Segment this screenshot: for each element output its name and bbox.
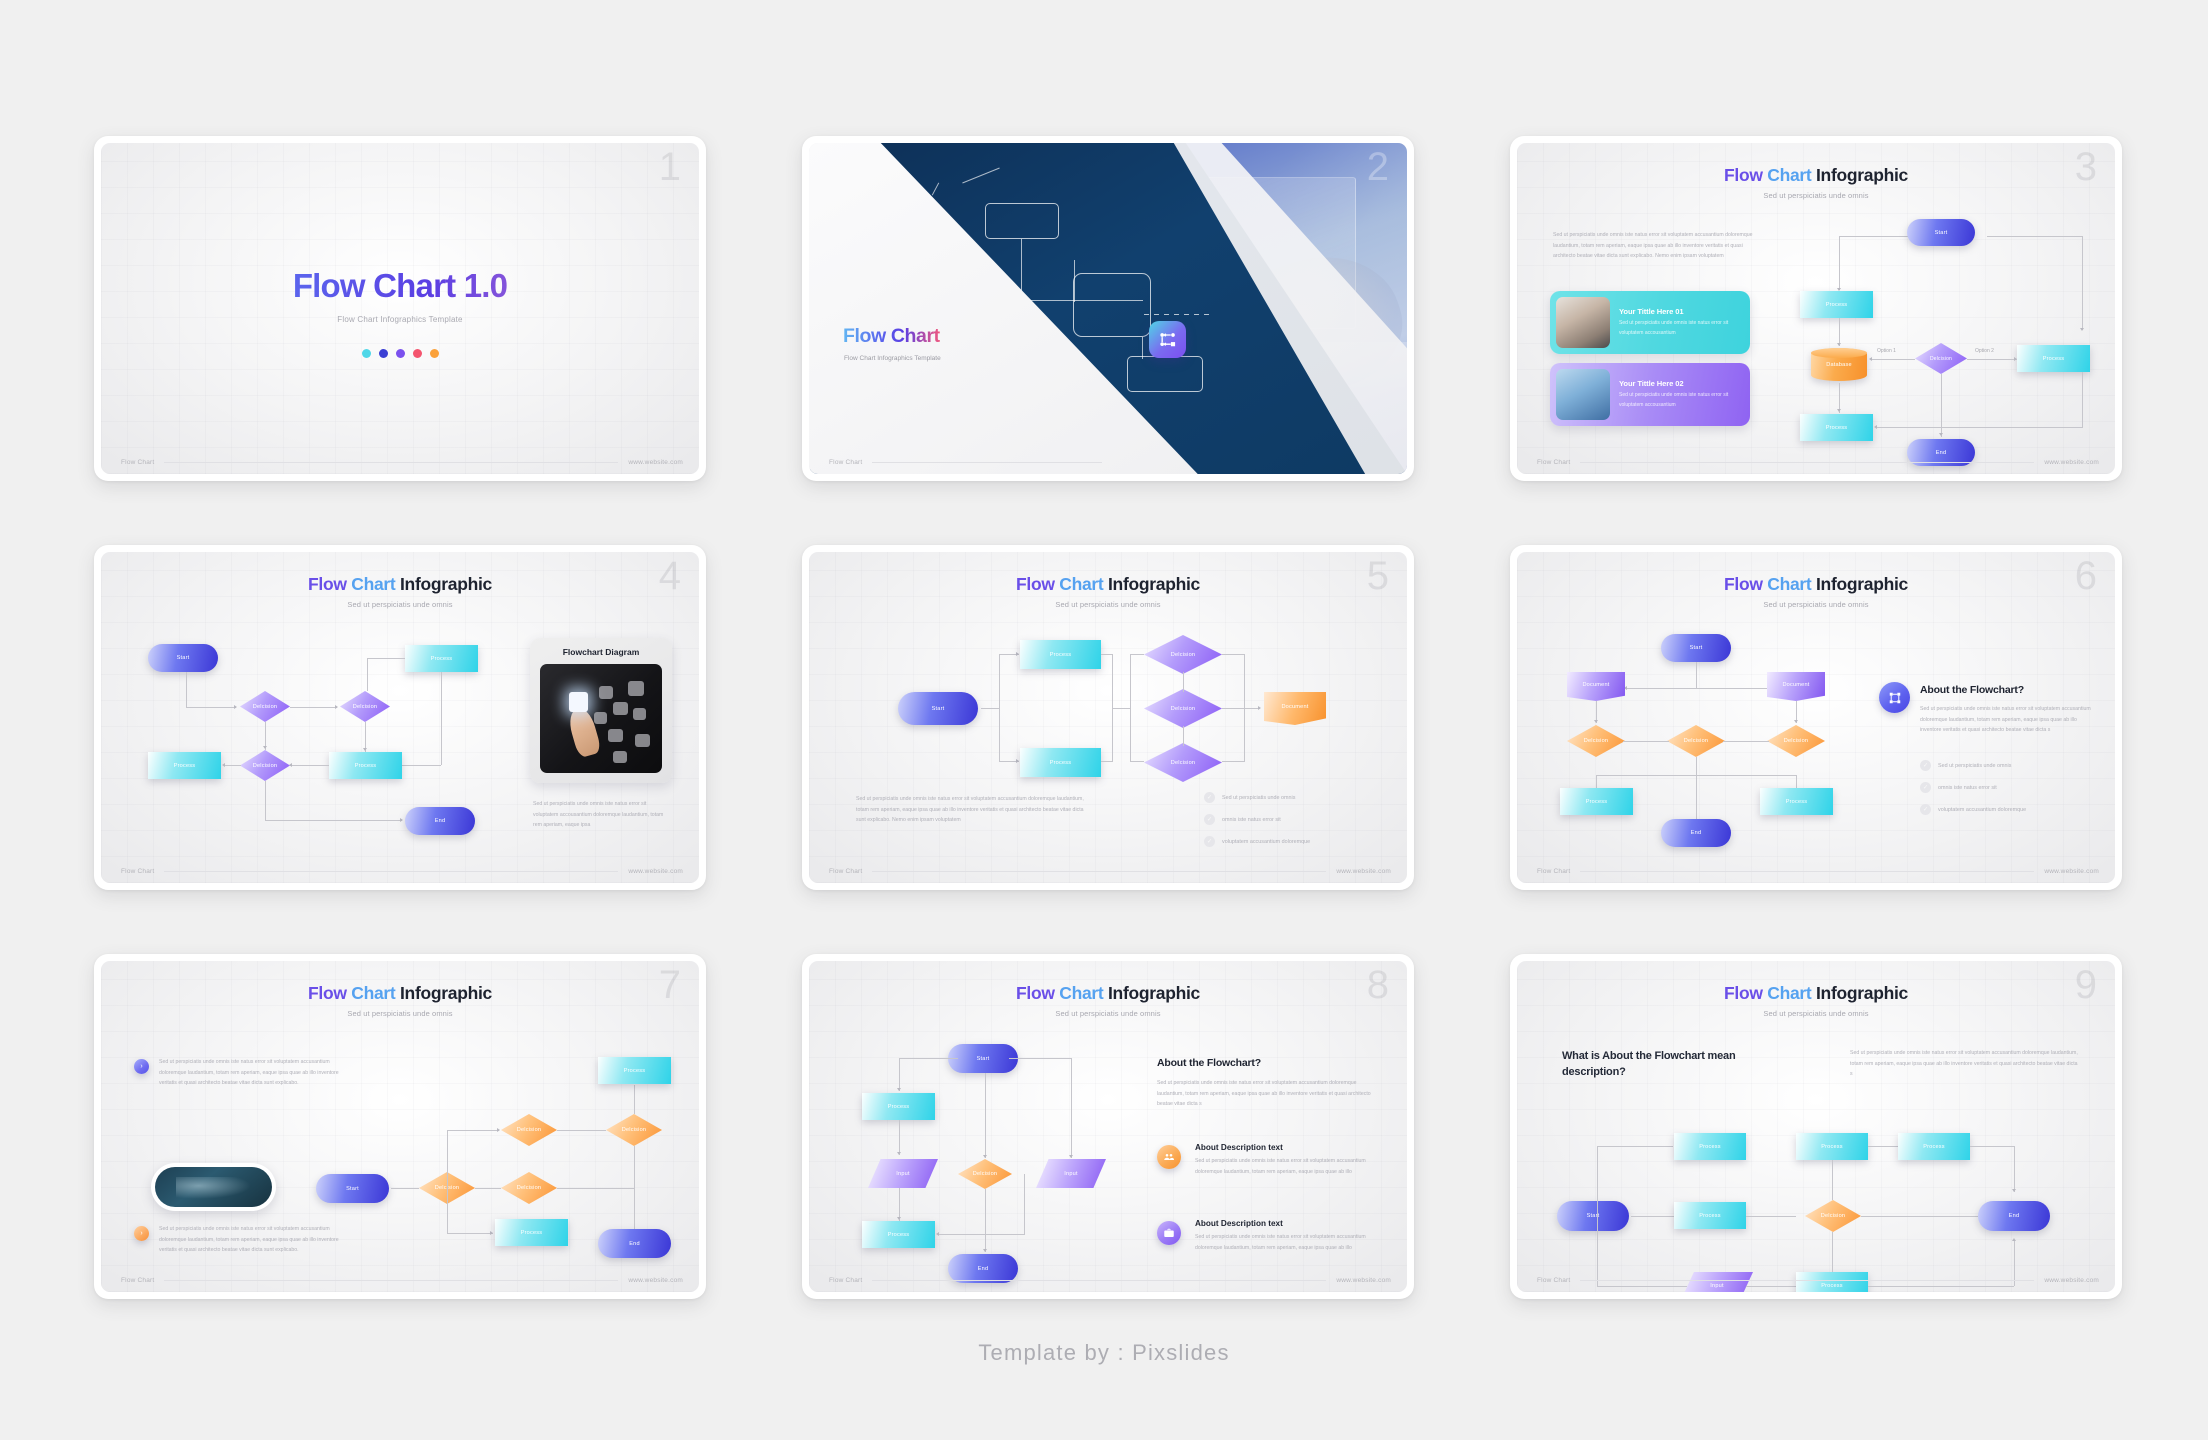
check-icon: ✓: [1204, 814, 1215, 825]
connector: [1222, 654, 1244, 655]
node-decision-b[interactable]: Delcision: [501, 1172, 557, 1204]
node-input-right[interactable]: Input: [1036, 1159, 1106, 1188]
footer-left: Flow Chart: [829, 868, 862, 875]
slide-subtitle: Sed ut perspiciatis unde omnis: [1517, 1009, 2115, 1018]
node-label: Process: [2043, 356, 2065, 362]
footer-rule: [164, 462, 618, 463]
connector: [2014, 1146, 2015, 1192]
node-label: End: [2009, 1213, 2020, 1219]
connector: [447, 1188, 448, 1233]
node-start[interactable]: Start: [1907, 219, 1975, 246]
users-icon: [1157, 1145, 1181, 1169]
slide-5-infographic-document[interactable]: 5 Flow Chart Infographic Sed ut perspici…: [802, 545, 1414, 890]
bullet-item: ✓ Sed ut perspiciatis unde omnis: [1920, 760, 2100, 771]
node-decision-2[interactable]: Delcision: [340, 691, 390, 722]
node-end[interactable]: End: [405, 807, 475, 835]
connector: [1839, 318, 1840, 346]
slide-number: 9: [2075, 965, 2097, 1005]
drawn-line-6: [962, 168, 999, 184]
connector: [938, 1234, 1024, 1235]
node-start[interactable]: Start: [316, 1174, 389, 1203]
node-decision-3[interactable]: Delcision: [1144, 743, 1222, 782]
node-label: Input: [1064, 1171, 1077, 1177]
flowchart-diagram-photo-card[interactable]: Flowchart Diagram: [530, 638, 672, 783]
title-word-infographic: Infographic: [1108, 983, 1200, 1003]
photo-node: [633, 708, 646, 720]
page-footer-credit: Template by : Pixslides: [0, 1340, 2208, 1366]
node-decision-1[interactable]: Delcision: [1144, 635, 1222, 674]
slide-footer: Flow Chart www.website.com: [1537, 868, 2099, 875]
node-label: Delcision: [1171, 760, 1196, 766]
footer-right: www.website.com: [628, 868, 683, 875]
node-label: Process: [1826, 302, 1848, 308]
node-start[interactable]: Start: [898, 692, 978, 725]
node-process-top[interactable]: Process: [1020, 640, 1101, 669]
arrow-left: [289, 763, 292, 767]
node-label: Start: [346, 1186, 359, 1192]
node-label: Delcision: [253, 763, 278, 769]
connector: [899, 1120, 900, 1155]
arrow-down: [897, 1088, 901, 1091]
title-word-chart: Chart: [351, 574, 395, 594]
bullet-item: ✓ Sed ut perspiciatis unde omnis: [1204, 792, 1394, 803]
node-start[interactable]: Start: [148, 644, 218, 672]
title-word-chart: Chart: [1767, 574, 1811, 594]
node-label: Delcision: [1584, 738, 1609, 744]
footer-right: www.website.com: [2044, 459, 2099, 466]
slide-1-cover[interactable]: 1 Flow Chart 1.0 Flow Chart Infographics…: [94, 136, 706, 481]
node-decision-1[interactable]: Delcision: [240, 691, 290, 722]
connector: [1101, 761, 1112, 762]
arrow-down: [983, 1155, 987, 1158]
slide-9-infographic-question[interactable]: 9 Flow Chart Infographic Sed ut perspici…: [1510, 954, 2122, 1299]
node-end[interactable]: End: [598, 1229, 671, 1258]
title-word-chart: Chart: [1059, 574, 1103, 594]
option-1-label: Option 1: [1877, 348, 1896, 354]
node-process-1[interactable]: Process: [1800, 291, 1873, 318]
slide-heading: Flow Chart Infographic Sed ut perspiciat…: [1517, 143, 2115, 200]
node-label: Process: [1923, 1144, 1945, 1150]
node-process-mid[interactable]: Process: [329, 752, 402, 779]
footer-rule: [1580, 1280, 2034, 1281]
arrow-down: [1939, 433, 1943, 436]
node-label: Process: [355, 763, 377, 769]
footer-left: Flow Chart: [829, 459, 862, 466]
connector: [1130, 654, 1144, 655]
title-word-flow: Flow: [1724, 983, 1763, 1003]
connector: [290, 765, 329, 766]
footer-right: www.website.com: [2044, 1277, 2099, 1284]
photo-node: [608, 729, 623, 742]
connector: [1597, 1146, 1673, 1147]
arrow-down: [983, 1249, 987, 1252]
photo-node: [613, 751, 626, 763]
dot-2: [379, 349, 388, 358]
connector: [1597, 1286, 1687, 1287]
slide-heading: Flow Chart Infographic Sed ut perspiciat…: [101, 552, 699, 609]
connector: [1696, 775, 1697, 823]
node-process-right[interactable]: Process: [1760, 788, 1833, 815]
info-card-2[interactable]: Your Tittle Here 02 Sed ut perspiciatis …: [1550, 363, 1750, 426]
connector: [1746, 1216, 1796, 1217]
node-process-top-right[interactable]: Process: [1898, 1133, 1970, 1160]
connector: [186, 707, 236, 708]
connector: [398, 765, 441, 766]
connector: [1832, 1160, 1833, 1200]
footer-rule: [164, 1280, 618, 1281]
connector: [224, 765, 241, 766]
node-process-2[interactable]: Process: [2017, 345, 2090, 372]
node-label: Process: [1699, 1144, 1721, 1150]
dot-5: [430, 349, 439, 358]
dot-4: [413, 349, 422, 358]
slide-footer: Flow Chart www.website.com: [121, 459, 683, 466]
about-heading: About the Flowchart?: [1920, 684, 2024, 696]
about-body: Sed ut perspiciatis unde omnis iste natu…: [1157, 1078, 1383, 1110]
slide-4-infographic-diagram-photo[interactable]: 4 Flow Chart Infographic Sed ut perspici…: [94, 545, 706, 890]
node-process-left[interactable]: Process: [1560, 788, 1633, 815]
connector: [634, 1085, 635, 1114]
node-label: Process: [888, 1104, 910, 1110]
node-label: Process: [1821, 1144, 1843, 1150]
node-process-3[interactable]: Process: [1800, 414, 1873, 441]
slide-number: 2: [1367, 147, 1389, 187]
slide-number: 7: [659, 965, 681, 1005]
about-body: Sed ut perspiciatis unde omnis iste natu…: [1920, 704, 2095, 736]
arrow-down: [1794, 720, 1798, 723]
arrow-right: [234, 705, 237, 709]
node-database[interactable]: Database: [1811, 348, 1867, 381]
arrow-down: [1594, 720, 1598, 723]
connector: [1839, 236, 1840, 290]
description-heading: About Description text: [1195, 1219, 1383, 1228]
bullet-text: voluptatem accusantium doloremque: [1222, 839, 1310, 845]
connector: [1868, 1146, 1898, 1147]
connector: [1183, 672, 1184, 692]
connector: [1222, 761, 1244, 762]
node-decision[interactable]: Delcision: [958, 1159, 1012, 1189]
node-label: Process: [1050, 652, 1072, 658]
photo-node: [599, 686, 614, 699]
connector: [1631, 1216, 1675, 1217]
slide-paragraph: Sed ut perspiciatis unde omnis iste natu…: [856, 794, 1086, 826]
slide-7-infographic-two-notes[interactable]: 7 Flow Chart Infographic Sed ut perspici…: [94, 954, 706, 1299]
connector: [367, 658, 405, 659]
node-decision[interactable]: Delcision: [1805, 1200, 1861, 1232]
node-decision-c[interactable]: Delcision: [501, 1114, 557, 1146]
node-process-bottom[interactable]: Process: [1020, 748, 1101, 777]
node-process-top-mid[interactable]: Process: [1796, 1133, 1868, 1160]
footer-rule: [164, 871, 618, 872]
slide-paragraph: Sed ut perspiciatis unde omnis iste natu…: [1553, 230, 1753, 262]
title-word-chart: Chart: [351, 983, 395, 1003]
node-label: Delcision: [517, 1127, 542, 1133]
connector: [1868, 1286, 2014, 1287]
slide-6-infographic-about[interactable]: 6 Flow Chart Infographic Sed ut perspici…: [1510, 545, 2122, 890]
hero-title: Flow Chart: [843, 325, 940, 348]
slide-number: 3: [2075, 147, 2097, 187]
slide-footer: Flow Chart www.website.com: [829, 1277, 1391, 1284]
arrow-down: [1069, 1155, 1073, 1158]
bullet-item: ✓ omnis iste natus error sit: [1204, 814, 1394, 825]
photo-node: [635, 734, 650, 747]
connector: [475, 1188, 501, 1189]
briefcase-icon: [1157, 1221, 1181, 1245]
node-process-top[interactable]: Process: [598, 1057, 671, 1084]
photo-image: [155, 1167, 272, 1207]
arrow-right: [1016, 759, 1019, 763]
connector: [186, 672, 187, 707]
footer-left: Flow Chart: [1537, 459, 1570, 466]
node-label: End: [435, 818, 446, 824]
drawn-box-2: [1073, 273, 1151, 337]
node-process-top-left[interactable]: Process: [1674, 1133, 1746, 1160]
node-label: End: [978, 1266, 989, 1272]
node-decision-2[interactable]: Delcision: [1144, 689, 1222, 728]
slide-footer: Flow Chart www.website.com: [121, 868, 683, 875]
title-word-chart: Chart: [1059, 983, 1103, 1003]
info-card-1[interactable]: Your Tittle Here 01 Sed ut perspiciatis …: [1550, 291, 1750, 354]
arrow-right: [400, 818, 403, 822]
node-start[interactable]: Start: [948, 1044, 1018, 1073]
connector: [985, 1189, 986, 1252]
photo-image: [540, 664, 662, 773]
node-label: Start: [1690, 645, 1703, 651]
node-process-top[interactable]: Process: [862, 1093, 935, 1120]
hero-subtitle: Flow Chart Infographics Template: [844, 355, 941, 362]
connector: [899, 1058, 958, 1059]
node-label: Delcision: [1930, 356, 1952, 362]
title-word-infographic: Infographic: [1816, 574, 1908, 594]
connector: [1970, 1146, 2014, 1147]
node-process-bottom[interactable]: Process: [862, 1221, 935, 1248]
bullet-text: voluptatem accusantium doloremque: [1938, 807, 2026, 813]
connector: [1101, 654, 1112, 655]
node-label: Delcision: [1171, 652, 1196, 658]
arrow-down: [1837, 343, 1841, 346]
node-decision[interactable]: Delcision: [1915, 343, 1967, 374]
cover-dots: [101, 349, 699, 358]
bullet-item: ✓ omnis iste natus error sit: [1920, 782, 2100, 793]
node-process-top[interactable]: Process: [405, 645, 478, 672]
node-label: End: [1691, 830, 1702, 836]
slide-subtitle: Sed ut perspiciatis unde omnis: [809, 600, 1407, 609]
connector: [1696, 757, 1697, 775]
slide-heading: Flow Chart Infographic Sed ut perspiciat…: [809, 961, 1407, 1018]
chevron-right-icon-2: ›: [134, 1226, 149, 1241]
node-label: Start: [177, 655, 190, 661]
bullet-text: Sed ut perspiciatis unde omnis: [1222, 795, 1295, 801]
node-process-left[interactable]: Process: [148, 752, 221, 779]
connector: [1009, 1058, 1071, 1059]
arrow-down: [2012, 1189, 2016, 1192]
node-decision-3[interactable]: Delcision: [240, 750, 290, 781]
connector: [1112, 708, 1130, 709]
description-heading: About Description text: [1195, 1143, 1383, 1152]
question-heading: What is About the Flowchart mean descrip…: [1562, 1049, 1747, 1081]
node-decision-mid[interactable]: Delcision: [1667, 725, 1725, 757]
connector: [447, 1130, 448, 1188]
flowchart-nodes-icon: [1149, 321, 1186, 358]
slide-3-infographic-database[interactable]: 3 Flow Chart Infographic Sed ut perspici…: [1510, 136, 2122, 481]
bullet-item: ✓ voluptatem accusantium doloremque: [1204, 836, 1394, 847]
card-thumbnail: [1556, 297, 1610, 348]
connector: [1130, 654, 1131, 762]
node-label: Start: [1935, 230, 1948, 236]
slide-number: 1: [659, 147, 681, 187]
arrow-right: [2014, 357, 2017, 361]
check-icon: ✓: [1204, 836, 1215, 847]
description-body: Sed ut perspiciatis unde omnis iste natu…: [1195, 1232, 1380, 1253]
arrow-right: [490, 1231, 493, 1235]
connector: [981, 708, 999, 709]
card-thumbnail: [1556, 369, 1610, 420]
slide-paragraph: Sed ut perspiciatis unde omnis iste natu…: [1850, 1048, 2078, 1080]
title-word-infographic: Infographic: [400, 574, 492, 594]
connector: [391, 1188, 419, 1189]
node-start[interactable]: Start: [1661, 634, 1731, 662]
node-process-mid-left[interactable]: Process: [1674, 1202, 1746, 1229]
check-icon: ✓: [1920, 804, 1931, 815]
node-label: End: [1936, 450, 1947, 456]
connector: [1597, 1146, 1598, 1286]
photo-node: [613, 702, 628, 715]
node-label: Input: [896, 1171, 909, 1177]
slide-8-infographic-descriptions[interactable]: 8 Flow Chart Infographic Sed ut perspici…: [802, 954, 1414, 1299]
option-2-label: Option 2: [1975, 348, 1994, 354]
connector: [899, 1058, 900, 1091]
title-word-infographic: Infographic: [1816, 983, 1908, 1003]
slide-footer: Flow Chart www.website.com: [1537, 1277, 2099, 1284]
slide-heading: Flow Chart Infographic Sed ut perspiciat…: [101, 961, 699, 1018]
arrow-down: [263, 746, 267, 749]
footer-left: Flow Chart: [121, 868, 154, 875]
connector: [1130, 761, 1144, 762]
node-label: Delcision: [517, 1185, 542, 1191]
node-label: Start: [977, 1056, 990, 1062]
bullet-item: ✓ voluptatem accusantium doloremque: [1920, 804, 2100, 815]
bullet-text: Sed ut perspiciatis unde omnis: [1938, 763, 2011, 769]
node-end[interactable]: End: [1661, 819, 1731, 847]
node-document-right[interactable]: Document: [1767, 672, 1825, 701]
node-label: End: [629, 1241, 640, 1247]
node-label: Process: [1699, 1213, 1721, 1219]
slide-subtitle: Sed ut perspiciatis unde omnis: [1517, 600, 2115, 609]
footer-rule: [872, 462, 1102, 463]
slide-heading: Flow Chart Infographic Sed ut perspiciat…: [1517, 961, 2115, 1018]
node-label: Process: [1586, 799, 1608, 805]
cover-title: Flow Chart 1.0: [101, 267, 699, 305]
node-label: Database: [1826, 362, 1852, 368]
node-input-left[interactable]: Input: [868, 1159, 938, 1188]
node-label: Process: [431, 656, 453, 662]
connector: [999, 654, 1000, 762]
photo-node: [628, 681, 644, 695]
team-photo-pill[interactable]: [151, 1163, 276, 1211]
slide-deck-overview: 1 Flow Chart 1.0 Flow Chart Infographics…: [0, 0, 2208, 1440]
drawn-dash: [1144, 314, 1212, 315]
connector: [1871, 359, 1915, 360]
connector: [634, 1146, 635, 1229]
footer-rule: [872, 871, 1326, 872]
node-document[interactable]: Document: [1264, 692, 1326, 725]
arrow-down: [1837, 409, 1841, 412]
arrow-down: [897, 1217, 901, 1220]
arrow-left: [1869, 357, 1872, 361]
title-word-chart: Chart: [1767, 983, 1811, 1003]
note-2-text: Sed ut perspiciatis unde omnis iste natu…: [159, 1224, 344, 1256]
node-decision-left[interactable]: Delcision: [1567, 725, 1625, 757]
node-decision-right[interactable]: Delcision: [1767, 725, 1825, 757]
footer-right: www.website.com: [1336, 868, 1391, 875]
connector: [1696, 662, 1697, 688]
footer-rule: [1580, 462, 2034, 463]
title-word-chart: Chart: [1767, 165, 1811, 185]
slide-subtitle: Sed ut perspiciatis unde omnis: [809, 1009, 1407, 1018]
bullet-text: omnis iste natus error sit: [1938, 785, 1997, 791]
node-process-bottom[interactable]: Process: [495, 1219, 568, 1246]
connector: [1723, 741, 1769, 742]
connector: [1877, 427, 2082, 428]
connector: [1222, 708, 1260, 709]
node-start[interactable]: Start: [1557, 1201, 1629, 1231]
connector: [1024, 1174, 1025, 1235]
connector: [557, 1130, 606, 1131]
connector: [1623, 741, 1669, 742]
connector: [2082, 372, 2083, 428]
about-heading: About the Flowchart?: [1157, 1057, 1261, 1069]
description-body: Sed ut perspiciatis unde omnis iste natu…: [1195, 1156, 1380, 1177]
slide-2-title-photo[interactable]: WORK FLOW: [802, 136, 1414, 481]
footer-left: Flow Chart: [121, 459, 154, 466]
node-label: Process: [1786, 799, 1808, 805]
connector: [1967, 359, 2017, 360]
title-word-infographic: Infographic: [1108, 574, 1200, 594]
node-decision-d[interactable]: Delcision: [606, 1114, 662, 1146]
node-label: Delcision: [1821, 1213, 1846, 1219]
node-document-left[interactable]: Document: [1567, 672, 1625, 701]
footer-right: www.website.com: [1336, 1277, 1391, 1284]
check-icon: ✓: [1920, 782, 1931, 793]
node-label: Delcision: [622, 1127, 647, 1133]
footer-left: Flow Chart: [1537, 868, 1570, 875]
arrow-right: [335, 705, 338, 709]
connector: [1941, 374, 1942, 437]
slide-subtitle: Sed ut perspiciatis unde omnis: [1517, 191, 2115, 200]
photo-node: [594, 712, 607, 724]
dot-1: [362, 349, 371, 358]
slide-footer: Flow Chart: [829, 459, 1391, 466]
connector: [290, 707, 337, 708]
slide-heading: Flow Chart Infographic Sed ut perspiciat…: [809, 552, 1407, 609]
node-label: Delcision: [1171, 706, 1196, 712]
photo-highlight-node: [569, 692, 587, 712]
arrow-left: [1874, 425, 1877, 429]
node-label: Delcision: [1784, 738, 1809, 744]
node-label: Delcision: [1684, 738, 1709, 744]
arrow-left: [222, 763, 225, 767]
connector: [985, 1073, 986, 1158]
footer-right: www.website.com: [628, 459, 683, 466]
drawn-line-3: [1074, 260, 1075, 302]
slide-footer: Flow Chart www.website.com: [1537, 459, 2099, 466]
footer-left: Flow Chart: [829, 1277, 862, 1284]
title-word-infographic: Infographic: [1816, 165, 1908, 185]
node-end[interactable]: End: [1978, 1201, 2050, 1231]
arrow-right: [1016, 652, 1019, 656]
drawn-line-5: [932, 183, 939, 196]
footer-rule: [1580, 871, 2034, 872]
